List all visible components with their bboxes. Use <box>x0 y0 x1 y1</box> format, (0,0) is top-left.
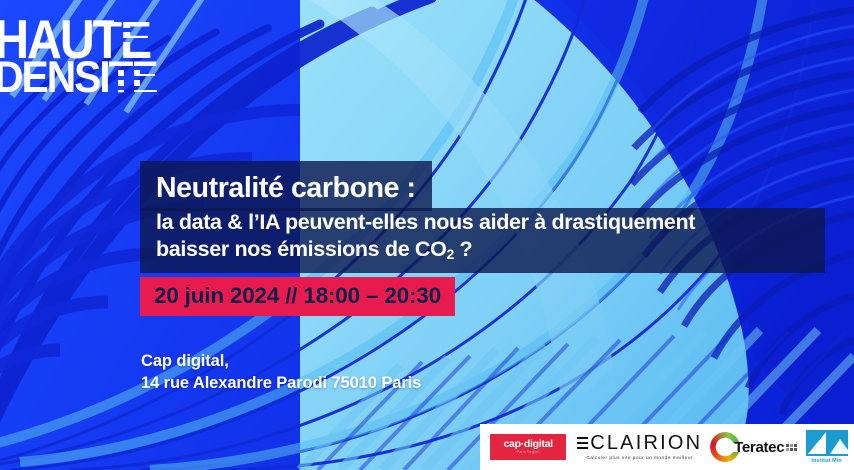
teratec-name: Teratec <box>734 440 784 455</box>
event-date-text: 20 juin 2024 // 18:00 – 20:30 <box>154 284 441 308</box>
title-line-3: baisser nos émissions de CO2 ? <box>156 236 809 264</box>
venue-address: Cap digital, 14 rue Alexandre Parodi 750… <box>141 350 421 395</box>
imt-name: Institut Min <box>811 458 842 464</box>
eclairion-e-icon <box>577 437 588 449</box>
haute-densite-wordmark: HAUTE DENSITE <box>0 6 188 102</box>
wordmark-line-2: DENSITE <box>0 53 157 102</box>
title-subline-block: la data & l’IA peuvent-elles nous aider … <box>140 208 825 274</box>
title-line-3-post: ? <box>454 237 472 261</box>
eclairion-name: CLAIRION <box>590 433 702 453</box>
title-line-3-pre: baisser nos émissions de CO <box>156 237 446 261</box>
eclairion-row: CLAIRION <box>577 433 702 453</box>
title-line-2: la data & l’IA peuvent-elles nous aider … <box>156 209 809 236</box>
cap-digital-subtitle: Paris Region <box>517 451 540 455</box>
wordmark-svg: HAUTE DENSITE <box>0 6 188 102</box>
event-date-badge: 20 juin 2024 // 18:00 – 20:30 <box>140 277 455 316</box>
logo-cap-digital: cap·digital Paris Region <box>488 424 568 470</box>
logo-eclairion: CLAIRION Calculer plus vite pour un mond… <box>568 424 711 470</box>
cap-digital-badge: cap·digital Paris Region <box>490 434 566 460</box>
title-line-1: Neutralité carbone : <box>140 161 432 211</box>
teratec-dots-icon <box>786 444 800 451</box>
eclairion-tagline: Calculer plus vite pour un monde meilleu… <box>586 456 693 461</box>
logo-institut-mines-telecom: Institut Min <box>799 424 854 470</box>
venue-line-1: Cap digital, <box>141 350 421 372</box>
cap-digital-name: cap·digital <box>504 439 553 450</box>
imt-mark-icon <box>806 430 848 456</box>
partner-logo-bar: cap·digital Paris Region CLAIRION Calcul… <box>480 424 854 470</box>
logo-teratec: Teratec <box>711 424 799 470</box>
title-block: Neutralité carbone : la data & l’IA peuv… <box>140 161 825 273</box>
co2-subscript: 2 <box>446 246 453 262</box>
venue-line-2: 14 rue Alexandre Parodi 75010 Paris <box>141 372 421 394</box>
teratec-inner: Teratec <box>710 432 800 462</box>
event-poster: HAUTE DENSITE Neutralité carbone : la da… <box>0 0 854 470</box>
